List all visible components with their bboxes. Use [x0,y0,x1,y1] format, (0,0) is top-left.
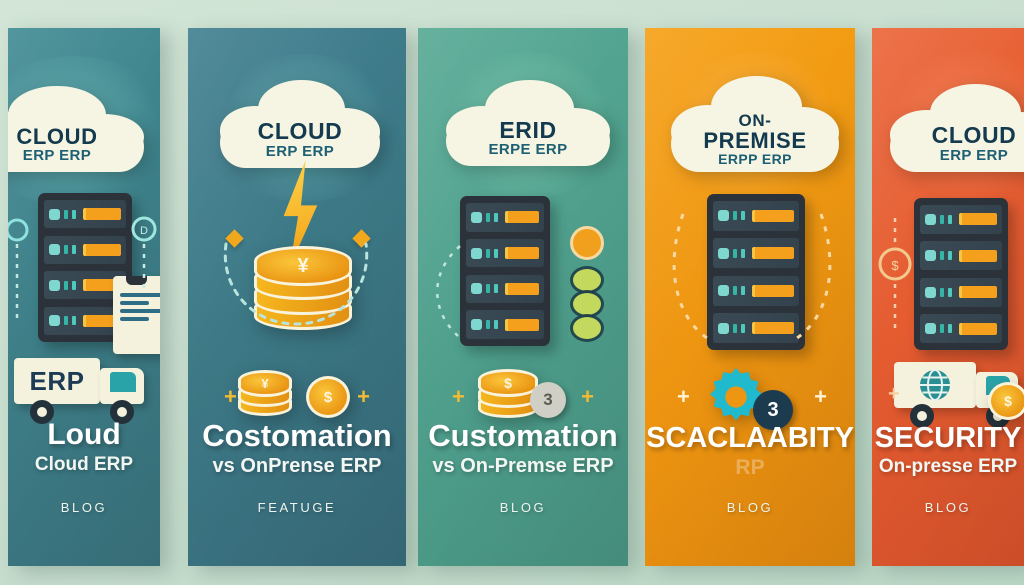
document-notch [126,276,146,285]
coin-symbol: $ [309,379,347,415]
activity-bar [505,319,539,331]
wheel-hub [917,411,927,421]
server-bay [920,278,1002,307]
cloud-line-2: ERPE ERP [446,142,610,157]
tick [940,288,944,297]
plus-marker: + [452,386,465,408]
tick [940,251,944,260]
activity-bar [83,208,121,220]
tick [494,213,498,222]
caption-subline: On-presse ERP [872,457,1024,477]
activity-bar [752,322,794,334]
footer-blog-label[interactable]: BLOG [645,500,855,515]
panel-caption: Loud Cloud ERP [8,420,160,475]
status-dot [471,248,482,259]
cloud-line-2: ERP ERP [8,148,144,163]
tick [948,215,952,224]
server-bay [44,236,126,264]
server-bay [920,314,1002,343]
tick [64,281,68,290]
server-bay [466,203,544,232]
diamond-marker [225,229,243,247]
cloud-badge: ERID ERPE ERP [446,80,610,166]
tick [72,281,76,290]
cloud-badge: ON- PREMISE ERPP ERP [671,76,839,172]
plus-marker: + [888,384,900,404]
coin-badge: $ [988,386,1022,420]
activity-bar [959,286,997,298]
status-dot [471,283,482,294]
coin-stack: ¥ [254,256,346,330]
server-bay [713,201,799,231]
footer-blog-label[interactable]: BLOG [872,500,1024,515]
tick [72,316,76,325]
caption-headline: Loud [8,420,160,450]
wheel-hub [37,407,47,417]
cloud-label: CLOUD ERP ERP [890,124,1024,163]
tick [741,286,745,295]
server-bay [920,205,1002,234]
status-dot [49,209,60,220]
document-line [120,317,149,321]
tick [741,249,745,258]
caption-headline: Customation [418,420,628,451]
activity-bar [83,244,121,256]
tick [72,210,76,219]
cloud-label: CLOUD ERP ERP [8,126,144,164]
panel-caption: Costomation vs OnPrense ERP [188,420,406,477]
coin-symbol: $ [481,372,535,394]
coin-top: $ [988,382,1024,420]
status-dot [925,250,936,261]
status-dot [49,315,60,326]
status-dot [718,210,729,221]
status-dot [49,244,60,255]
caption-subline: Cloud ERP [8,455,160,475]
tick [741,324,745,333]
coin-top: $ [478,369,538,397]
server-bay [713,238,799,268]
tick [494,320,498,329]
connector-dashes [8,218,32,328]
document-card [113,276,160,354]
cloud-label: ERID ERPE ERP [446,119,610,158]
activity-bar [752,247,794,259]
coin-top: $ [306,376,350,418]
tick [64,245,68,254]
status-light [570,314,604,342]
truck-window [110,372,136,392]
wheel-hub [117,407,127,417]
status-dot [471,212,482,223]
plus-marker: + [224,386,237,408]
panel-caption: Customation vs On-Premse ERP [418,420,628,477]
server-bay [713,276,799,306]
svg-text:$: $ [891,258,899,273]
tick [64,316,68,325]
connector-dashes [424,240,464,340]
panel-customization[interactable]: ERID ERPE ERP $ 3 + + [418,28,628,566]
truck-cargo-box: ERP [14,358,100,404]
connector-dashes: $ [878,214,912,334]
panel-customization-cost[interactable]: CLOUD ERP ERP ¥ ¥ $ [188,28,406,566]
status-dot [718,285,729,296]
coin-symbol: ¥ [241,373,289,394]
cloud-badge: CLOUD ERP ERP [220,80,380,168]
tick [948,324,952,333]
footer-blog-label[interactable]: BLOG [8,500,160,515]
tick [948,251,952,260]
coin-symbol: ¥ [257,249,349,283]
count-badge: 3 [530,382,566,418]
server-bay [466,275,544,304]
tick [948,288,952,297]
coin-top: ¥ [238,370,292,397]
tick [733,286,737,295]
server-bay [466,310,544,339]
cloud-line-1: CLOUD [890,124,1024,147]
status-dot [925,214,936,225]
cloud-badge: CLOUD ERP ERP [8,86,144,172]
globe-icon [917,367,953,403]
panel-caption: SECURITY On-presse ERP [872,424,1024,477]
tick [733,324,737,333]
server-bay [44,200,126,228]
cloud-line-1: CLOUD [220,120,380,143]
delivery-truck: ERP [14,358,154,426]
coin-stack-small: ¥ [238,370,286,416]
caption-subline: vs OnPrense ERP [188,456,406,477]
status-light-active [570,226,604,260]
panel-scalability[interactable]: ON- PREMISE ERPP ERP 3 + + SCACLAABITY R… [645,28,855,566]
server-bay [713,313,799,343]
panel-security[interactable]: CLOUD ERP ERP $ [872,28,1024,566]
truck-cargo-box [894,362,976,408]
caption-headline: SCACLAABITY [645,424,855,453]
plus-marker: + [581,386,594,408]
server-rack [707,194,805,350]
activity-bar [959,323,997,335]
cloud-label: CLOUD ERP ERP [220,120,380,159]
activity-bar [505,283,539,295]
tick [494,249,498,258]
document-line [120,301,149,305]
cloud-line-2: ERP ERP [220,144,380,159]
activity-bar [752,285,794,297]
activity-bar [505,211,539,223]
caption-subline: vs On-Premse ERP [418,456,628,477]
cloud-badge: CLOUD ERP ERP [890,84,1024,172]
status-dot [925,287,936,298]
caption-headline: SECURITY [872,424,1024,453]
tick [733,249,737,258]
tick [940,215,944,224]
document-line [120,309,160,313]
tick [72,245,76,254]
tick [64,210,68,219]
plus-marker: + [357,386,370,408]
cloud-line-1: CLOUD [8,126,144,148]
tick [940,324,944,333]
activity-bar [752,210,794,222]
coin-top: ¥ [254,246,352,286]
panel-cloud-erp[interactable]: CLOUD ERP ERP D [8,28,160,566]
footer-blog-label[interactable]: FEATUGE [188,500,406,515]
tick [486,284,490,293]
tick [486,249,490,258]
tick [741,211,745,220]
status-dot [49,280,60,291]
activity-bar [505,247,539,259]
cloud-line-1: ERID [446,119,610,142]
server-rack [460,196,550,346]
coin-symbol: $ [991,385,1024,417]
activity-bar [959,250,997,262]
plus-marker: + [677,386,690,408]
truck-label: ERP [30,366,85,397]
cloud-line-2: PREMISE [671,130,839,152]
server-bay [466,239,544,268]
footer-blog-label[interactable]: BLOG [418,500,628,515]
server-rack [914,198,1008,350]
activity-bar [959,213,997,225]
diamond-marker [352,229,370,247]
tick [486,213,490,222]
status-dot [718,248,729,259]
plus-marker: + [814,386,827,408]
cloud-line-1: ON- [671,112,839,129]
banner-set-canvas: CLOUD ERP ERP D [0,0,1024,585]
status-dot [925,323,936,334]
cloud-line-3: ERPP ERP [671,152,839,166]
coin-stack: $ [478,370,532,418]
cloud-label: ON- PREMISE ERPP ERP [671,112,839,166]
panel-caption: SCACLAABITY RP [645,424,855,479]
document-line [120,293,160,297]
status-dot [471,319,482,330]
server-bay [920,241,1002,270]
svg-text:D: D [140,225,148,237]
tick [733,211,737,220]
caption-headline: Costomation [188,420,406,451]
tick [486,320,490,329]
status-dot [718,323,729,334]
tick [494,284,498,293]
coin-badge: $ [306,380,344,418]
cloud-line-2: ERP ERP [890,148,1024,163]
caption-ghost: RP [645,457,855,479]
